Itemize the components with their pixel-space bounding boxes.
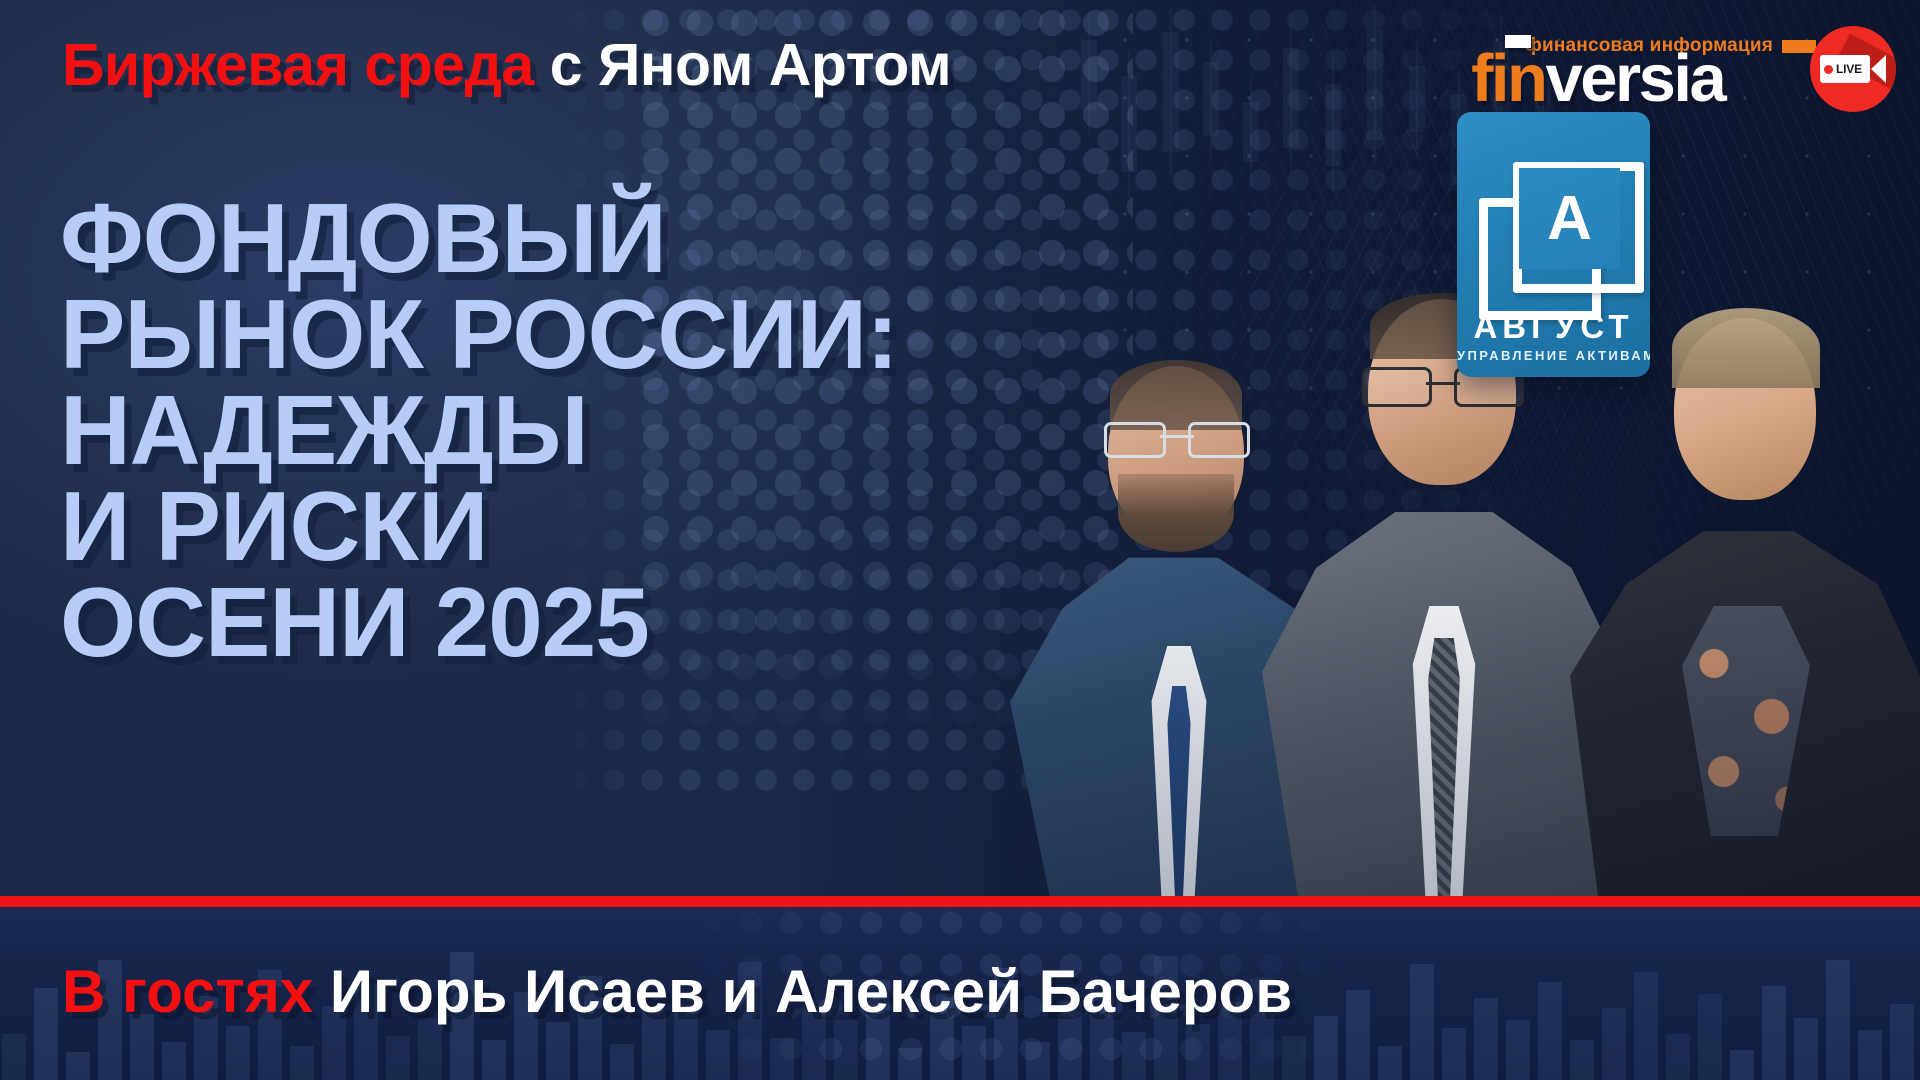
title-line-3: НАДЕЖДЫ <box>60 382 1130 478</box>
live-label: LIVE <box>1836 62 1862 76</box>
video-camera-icon: LIVE <box>1820 55 1886 83</box>
guests-label: В гостях <box>62 958 313 1025</box>
camera-body-icon: LIVE <box>1820 55 1870 83</box>
title-line-4: И РИСКИ <box>60 478 1130 574</box>
page-title: ФОНДОВЫЙ РЫНОК РОССИИ: НАДЕЖДЫ И РИСКИ О… <box>60 190 1130 670</box>
avgust-subtitle: УПРАВЛЕНИЕ АКТИВАМИ <box>1457 348 1650 363</box>
title-line-1: ФОНДОВЫЙ <box>60 190 1130 286</box>
title-line-5: ОСЕНИ 2025 <box>60 574 1130 670</box>
title-line-2: РЫНОК РОССИИ: <box>60 286 1130 382</box>
avgust-monogram: А <box>1519 168 1620 269</box>
kicker-show-name: Биржевая среда <box>62 32 534 98</box>
finversia-word: fin versia <box>1471 51 1816 108</box>
camera-lens-icon <box>1871 55 1886 83</box>
finversia-wordmark: финансовая информация fin versia <box>1471 35 1816 108</box>
finversia-word-versia: versia <box>1545 51 1724 108</box>
finversia-logo[interactable]: финансовая информация fin versia LIVE <box>1471 24 1896 108</box>
guests-line: В гостях Игорь Исаев и Алексей Бачеров <box>62 962 1292 1022</box>
broadcast-cover: Биржевая среда с Яном Артом ФОНДОВЫЙ РЫН… <box>0 0 1920 1080</box>
finversia-i-bar-icon <box>1505 35 1531 48</box>
avgust-logo[interactable]: А АВГУСТ УПРАВЛЕНИЕ АКТИВАМИ <box>1457 112 1650 377</box>
record-dot-icon <box>1824 65 1833 74</box>
show-kicker: Биржевая среда с Яном Артом <box>62 36 951 95</box>
live-badge[interactable]: LIVE <box>1810 26 1896 112</box>
guests-names: Игорь Исаев и Алексей Бачеров <box>330 958 1292 1025</box>
finversia-word-fin: fin <box>1471 51 1545 108</box>
avgust-name: АВГУСТ <box>1457 308 1650 346</box>
kicker-host-name: с Яном Артом <box>550 32 951 98</box>
